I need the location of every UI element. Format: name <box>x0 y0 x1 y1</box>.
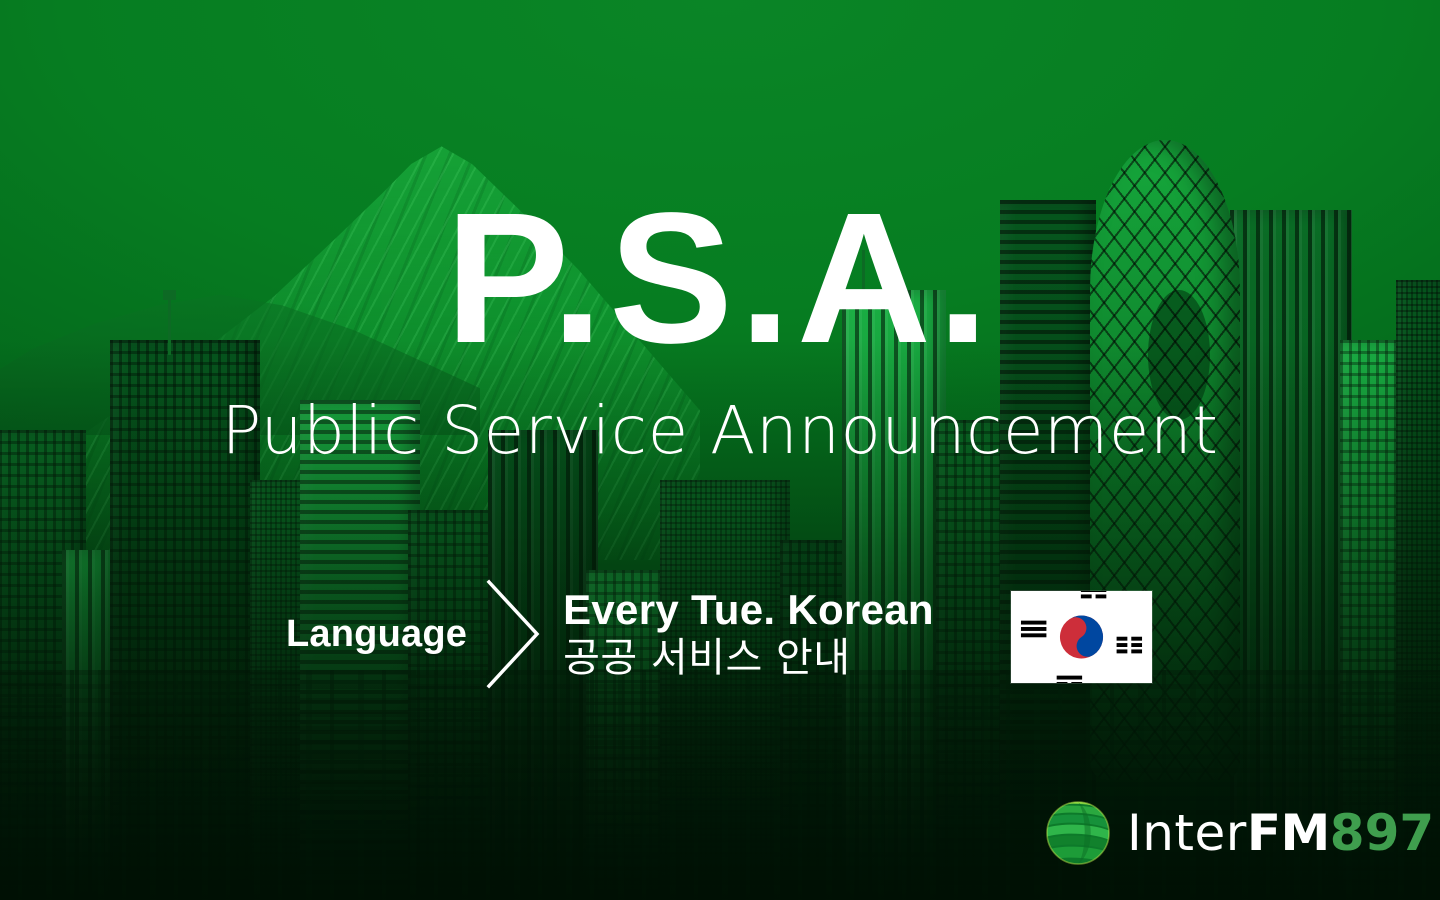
psa-banner: P.S.A. Public Service Announcement Langu… <box>0 0 1440 900</box>
page-title: P.S.A. <box>0 186 1440 372</box>
banner-content: P.S.A. Public Service Announcement Langu… <box>0 0 1440 900</box>
south-korea-flag-icon <box>1011 591 1152 683</box>
language-info-row: Language Every Tue. Korean 공공 서비스 안내 <box>286 578 934 690</box>
interfm-logo: Inter FM 897 <box>1043 798 1434 868</box>
logo-frequency: 897 <box>1330 808 1434 858</box>
logo-inter-text: Inter <box>1127 808 1247 858</box>
schedule-korean: 공공 서비스 안내 <box>563 636 934 680</box>
page-subtitle: Public Service Announcement <box>0 398 1440 464</box>
language-label: Language <box>286 613 481 656</box>
logo-fm-text: FM <box>1247 808 1330 858</box>
schedule-english: Every Tue. Korean <box>563 588 934 632</box>
schedule-texts: Every Tue. Korean 공공 서비스 안내 <box>563 588 934 680</box>
chevron-right-icon <box>481 578 545 690</box>
globe-icon <box>1043 798 1113 868</box>
logo-wordmark: Inter FM 897 <box>1127 808 1434 858</box>
